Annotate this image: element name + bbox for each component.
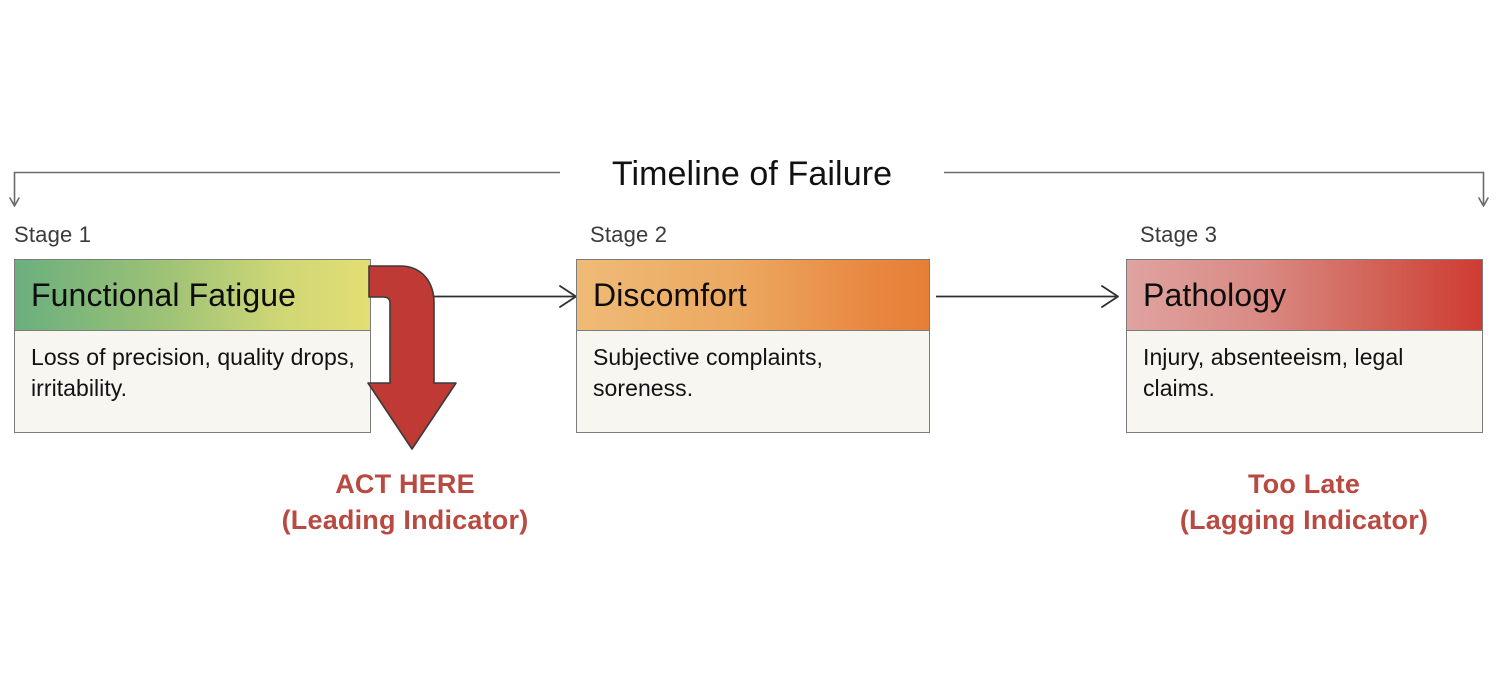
callout-too-late-line1: Too Late: [1154, 466, 1454, 502]
connector-arrow-2-3: [930, 280, 1130, 314]
callout-act-here: ACT HERE (Leading Indicator): [255, 466, 555, 538]
stage-label-1: Stage 1: [14, 222, 91, 248]
stage-label-2: Stage 2: [590, 222, 667, 248]
stage-box-1: Functional Fatigue Loss of precision, qu…: [14, 259, 371, 433]
stage-title-2: Discomfort: [577, 260, 929, 331]
stage-box-2: Discomfort Subjective complaints, sorene…: [576, 259, 930, 433]
stage-title-1: Functional Fatigue: [15, 260, 370, 331]
stage-description-3: Injury, absenteeism, legal claims.: [1127, 331, 1482, 432]
connector-arrow-1-2: [408, 280, 588, 314]
act-here-arrow-icon: [352, 255, 482, 460]
callout-act-here-line2: (Leading Indicator): [255, 502, 555, 538]
stage-label-3: Stage 3: [1140, 222, 1217, 248]
stage-box-3: Pathology Injury, absenteeism, legal cla…: [1126, 259, 1483, 433]
stage-description-1: Loss of precision, quality drops, irrita…: [15, 331, 370, 432]
diagram-canvas: Timeline of Failure Stage 1 Functional F…: [0, 0, 1504, 688]
callout-too-late: Too Late (Lagging Indicator): [1154, 466, 1454, 538]
stage-description-2: Subjective complaints, soreness.: [577, 331, 929, 432]
timeline-title: Timeline of Failure: [0, 152, 1504, 196]
callout-too-late-line2: (Lagging Indicator): [1154, 502, 1454, 538]
stage-title-3: Pathology: [1127, 260, 1482, 331]
callout-act-here-line1: ACT HERE: [255, 466, 555, 502]
